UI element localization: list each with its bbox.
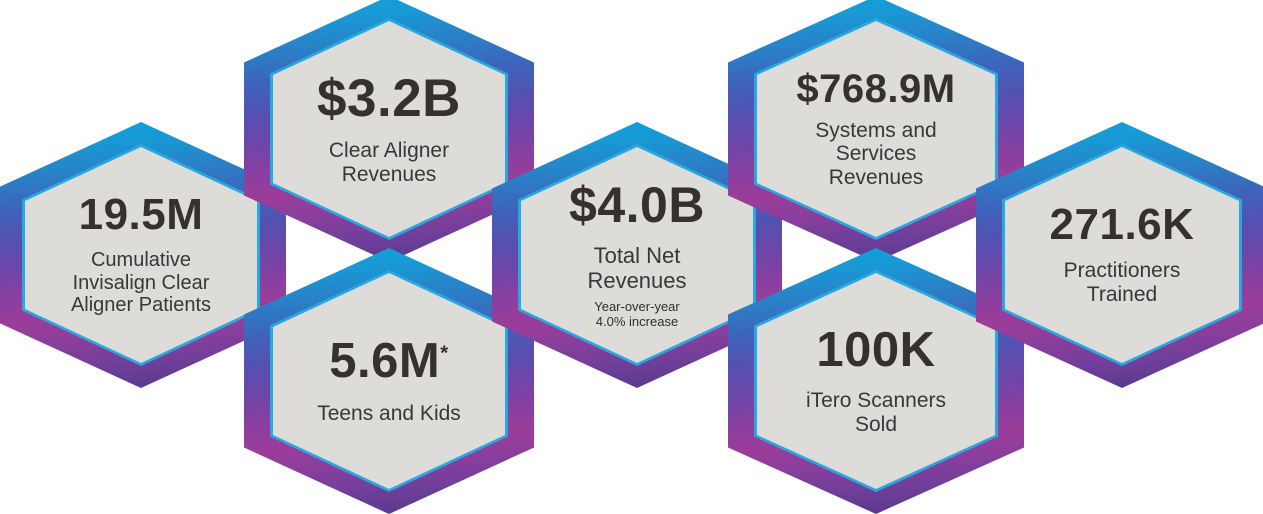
stat-label: Cumulative Invisalign Clear Aligner Pati… bbox=[71, 249, 211, 316]
stat-label-line: Cumulative bbox=[71, 249, 211, 271]
stat-value: $3.2B bbox=[317, 72, 461, 125]
hex-cell-practitioners-trained[interactable]: 271.6K Practitioners Trained bbox=[976, 122, 1263, 388]
stat-label-line: Revenues bbox=[587, 269, 686, 294]
stat-subnote-line: 4.0% increase bbox=[594, 315, 680, 330]
hex-content: 100K iTero Scanners Sold bbox=[757, 273, 995, 489]
stat-label: Teens and Kids bbox=[317, 402, 461, 426]
stat-label-line: Trained bbox=[1064, 283, 1181, 307]
stat-value: $4.0B bbox=[569, 180, 705, 230]
stat-label-line: Systems and bbox=[815, 119, 936, 143]
stat-label-line: Revenues bbox=[329, 163, 449, 187]
infographic-canvas: 19.5M Cumulative Invisalign Clear Aligne… bbox=[0, 0, 1263, 512]
stat-label-line: Revenues bbox=[815, 166, 936, 190]
stat-label-line: Total Net bbox=[587, 244, 686, 269]
hex-content: 271.6K Practitioners Trained bbox=[1005, 147, 1239, 363]
stat-value: 100K bbox=[816, 326, 935, 375]
hex-cell-teens[interactable]: 5.6M* Teens and Kids bbox=[244, 248, 534, 514]
stat-label-line: Aligner Patients bbox=[71, 294, 211, 316]
stat-label: Systems and Services Revenues bbox=[815, 119, 936, 190]
stat-label-line: iTero Scanners bbox=[806, 389, 946, 413]
stat-value: 5.6M* bbox=[329, 337, 448, 386]
stat-label: Total Net Revenues bbox=[587, 244, 686, 293]
stat-label-line: Services bbox=[815, 142, 936, 166]
stat-label: Clear Aligner Revenues bbox=[329, 139, 449, 186]
stat-value: 271.6K bbox=[1050, 203, 1195, 247]
stat-subnote-line: Year-over-year bbox=[594, 300, 680, 315]
footnote-asterisk: * bbox=[440, 341, 449, 364]
stat-label-line: Practitioners bbox=[1064, 259, 1181, 283]
hex-content: $4.0B Total Net Revenues Year-over-year … bbox=[521, 147, 753, 363]
hex-content: 5.6M* Teens and Kids bbox=[273, 273, 505, 489]
stat-label-line: Invisalign Clear bbox=[71, 272, 211, 294]
stat-value: $768.9M bbox=[796, 69, 955, 109]
stat-value: 19.5M bbox=[79, 193, 204, 237]
hex-content: 19.5M Cumulative Invisalign Clear Aligne… bbox=[25, 147, 257, 363]
stat-label-line: Teens and Kids bbox=[317, 402, 461, 426]
stat-label-line: Sold bbox=[806, 413, 946, 437]
stat-label: iTero Scanners Sold bbox=[806, 389, 946, 436]
hex-content: $3.2B Clear Aligner Revenues bbox=[273, 21, 505, 237]
stat-label: Practitioners Trained bbox=[1064, 259, 1181, 306]
hex-cell-clear-aligner[interactable]: $3.2B Clear Aligner Revenues bbox=[244, 0, 534, 262]
stat-subnote: Year-over-year 4.0% increase bbox=[594, 300, 680, 330]
hex-content: $768.9M Systems and Services Revenues bbox=[757, 21, 995, 237]
stat-label-line: Clear Aligner bbox=[329, 139, 449, 163]
